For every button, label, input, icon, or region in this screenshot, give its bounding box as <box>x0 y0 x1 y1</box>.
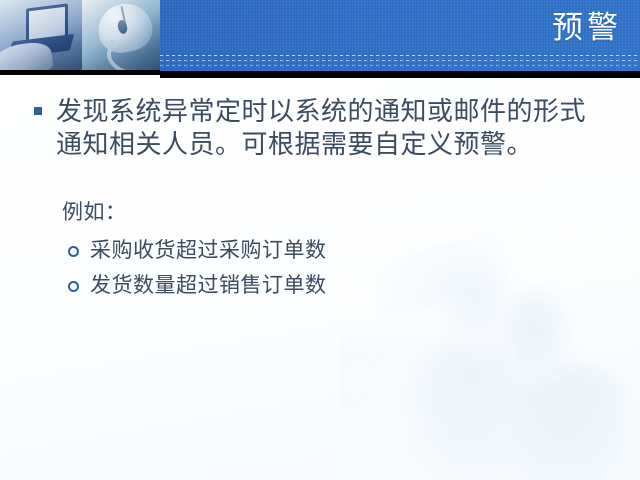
slide-header: 预警 <box>0 0 640 78</box>
header-dashed-rule-3 <box>160 65 640 66</box>
square-bullet-icon <box>34 107 42 115</box>
page-title: 预警 <box>552 8 622 48</box>
laptop-photo-overlay <box>0 0 82 70</box>
list-item-label: 发货数量超过销售订单数 <box>90 271 327 299</box>
mouse-photo-overlay <box>82 0 160 70</box>
header-dashed-rule-1 <box>160 55 640 56</box>
bullet-level2-label: 例如： <box>62 199 127 226</box>
list-item: 发货数量超过销售订单数 <box>68 271 588 299</box>
ring-bullet-icon <box>68 246 79 257</box>
bullet-level1-label: 发现系统异常定时以系统的通知或邮件的形式通知相关人员。可根据需要自定义预警。 <box>56 96 606 162</box>
bullet-list-level3: 采购收货超过采购订单数 发货数量超过销售订单数 <box>68 236 588 306</box>
list-item-label: 采购收货超过采购订单数 <box>90 236 327 264</box>
slide-content: 发现系统异常定时以系统的通知或邮件的形式通知相关人员。可根据需要自定义预警。 例… <box>0 78 640 480</box>
mouse-photo <box>82 0 160 70</box>
header-black-rule <box>160 71 640 78</box>
laptop-photo <box>0 0 82 70</box>
ring-bullet-icon <box>68 281 79 292</box>
bullet-item-level1: 发现系统异常定时以系统的通知或邮件的形式通知相关人员。可根据需要自定义预警。 <box>34 96 606 162</box>
list-item: 采购收货超过采购订单数 <box>68 236 588 264</box>
header-photo-strip <box>0 0 160 70</box>
header-dashed-rule-2 <box>160 60 640 61</box>
presentation-slide: 预警 发现系统异常定时以系统的通知或邮件的形式通知相关人员。可根据需要自定义预警… <box>0 0 640 480</box>
header-black-rule-left <box>0 70 160 75</box>
